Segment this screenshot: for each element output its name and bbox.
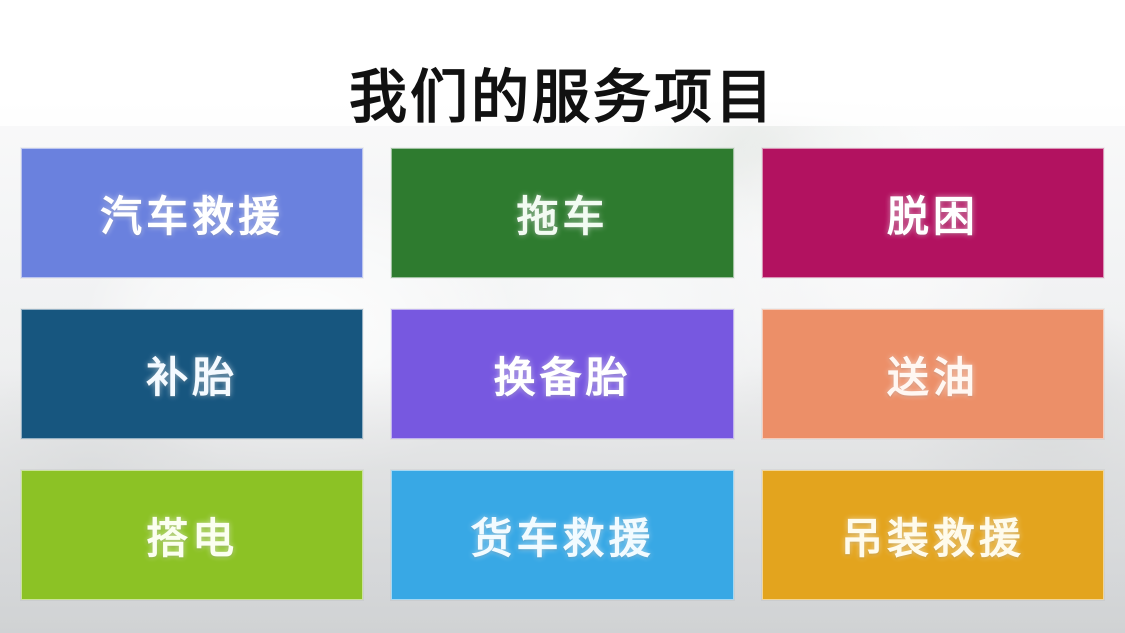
service-tile-car-rescue[interactable]: 汽车救援	[21, 148, 363, 278]
service-tile-label: 补胎	[146, 344, 238, 405]
service-tile-truck-rescue[interactable]: 货车救援	[391, 470, 733, 600]
service-tile-label: 汽车救援	[100, 183, 284, 244]
service-tile-spare-tire-change[interactable]: 换备胎	[391, 309, 733, 439]
service-tile-jump-start[interactable]: 搭电	[21, 470, 363, 600]
service-tile-extrication[interactable]: 脱困	[762, 148, 1104, 278]
service-tile-hoisting-rescue[interactable]: 吊装救援	[762, 470, 1104, 600]
service-tile-label: 吊装救援	[841, 505, 1025, 566]
service-tile-label: 货车救援	[470, 505, 654, 566]
service-tile-label: 搭电	[146, 505, 238, 566]
page-title: 我们的服务项目	[0, 59, 1125, 137]
service-tile-label: 脱困	[887, 183, 979, 244]
service-tile-label: 拖车	[516, 183, 608, 244]
service-tile-fuel-delivery[interactable]: 送油	[762, 309, 1104, 439]
service-poster: 我们的服务项目 汽车救援 拖车 脱困 补胎 换备胎 送油 搭电 货车救援 吊装救…	[0, 0, 1125, 633]
service-tile-label: 送油	[887, 344, 979, 405]
service-tile-tire-repair[interactable]: 补胎	[21, 309, 363, 439]
service-tile-towing[interactable]: 拖车	[391, 148, 733, 278]
service-tile-label: 换备胎	[493, 344, 631, 405]
service-grid: 汽车救援 拖车 脱困 补胎 换备胎 送油 搭电 货车救援 吊装救援	[21, 148, 1104, 600]
